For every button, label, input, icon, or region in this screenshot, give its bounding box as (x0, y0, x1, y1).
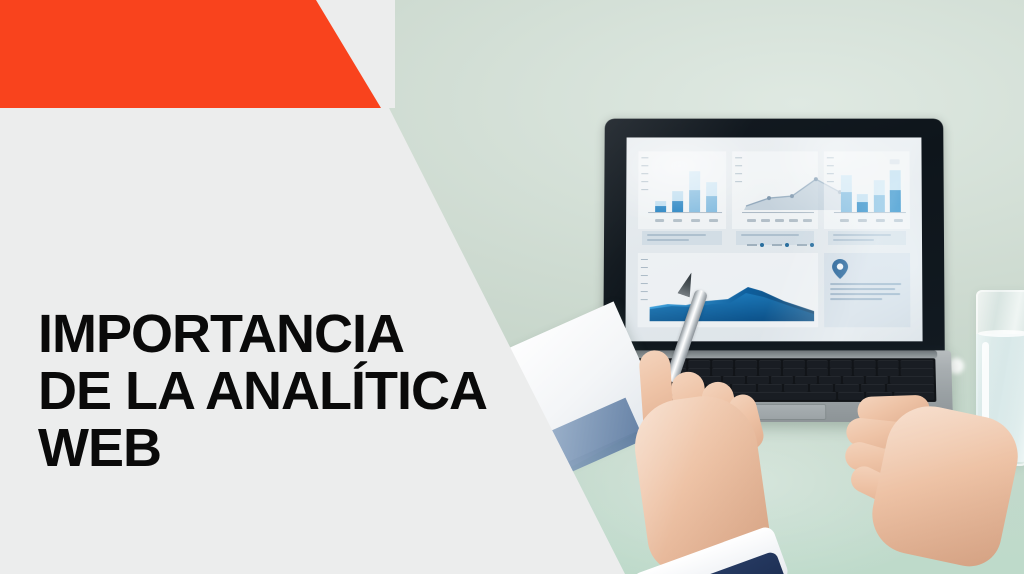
bar-series-right (838, 160, 904, 212)
dashboard-bottom-row (638, 253, 911, 327)
x-tick-labels-mid (744, 219, 815, 222)
bar-item (689, 172, 700, 212)
x-axis-mid (742, 212, 814, 213)
x-axis-left (648, 212, 722, 213)
map-pin-icon (832, 259, 848, 279)
x-tick-labels-left (650, 219, 723, 222)
panel-caption-left (642, 231, 722, 245)
dashboard-top-row (638, 151, 910, 229)
y-axis-ticks-left (641, 157, 648, 190)
panel-bar-right[interactable] (824, 151, 910, 229)
bar-item (706, 182, 717, 212)
y-axis-ticks-big (641, 259, 648, 300)
bar-item (672, 191, 683, 212)
panel-caption-right (828, 231, 906, 245)
analytics-dashboard (638, 151, 911, 327)
bar-item (655, 201, 666, 212)
bar-item (841, 175, 852, 212)
page-title: IMPORTANCIA DE LA ANALÍTICA WEB (38, 306, 538, 477)
x-axis-right (834, 212, 906, 213)
glass-rim (978, 330, 1024, 337)
bar-series-left (652, 160, 720, 212)
x-tick-labels-right (836, 219, 907, 222)
panel-location[interactable] (824, 253, 910, 327)
location-text-lines (830, 283, 904, 303)
panel-line-mid[interactable] (732, 151, 818, 229)
panel-bar-left[interactable] (638, 151, 726, 229)
title-line-2: DE LA ANALÍTICA (38, 363, 538, 420)
bar-item (890, 171, 901, 212)
panel-area-big[interactable] (638, 253, 819, 327)
poster-canvas: BUSINESS DAILY NEWS (0, 0, 1024, 574)
y-axis-ticks-mid (735, 157, 742, 182)
title-line-1: IMPORTANCIA (38, 306, 538, 363)
left-hand (597, 340, 817, 574)
bar-item (857, 194, 868, 212)
bar-item (874, 180, 885, 212)
laptop-lid (603, 119, 945, 363)
y-axis-ticks-right (827, 157, 834, 182)
big-area-chart (650, 277, 815, 321)
chart-legend (747, 243, 814, 247)
laptop-screen[interactable] (625, 137, 922, 341)
title-line-3: WEB (38, 420, 538, 477)
